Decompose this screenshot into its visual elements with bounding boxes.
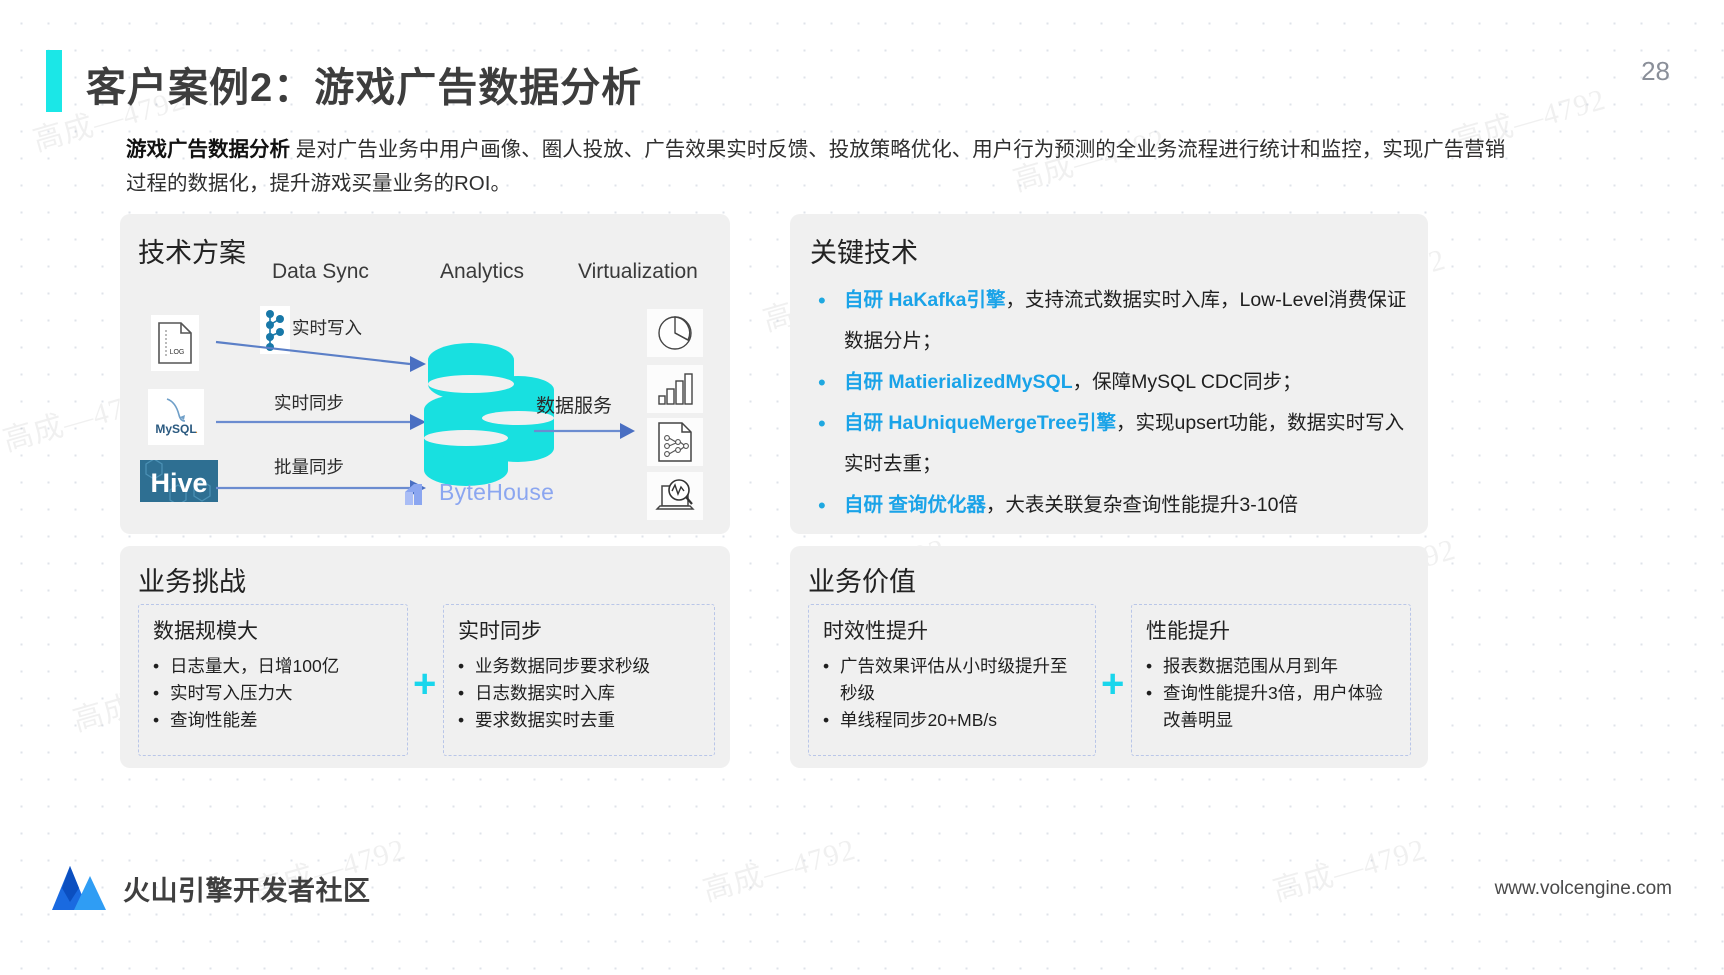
business-value-panel: 业务价值 时效性提升 •广告效果评估从小时级提升至秒级 •单线程同步20+MB/… (790, 546, 1428, 768)
bullet-icon: • (153, 680, 170, 707)
list-item: •业务数据同步要求秒级 (458, 653, 702, 680)
challenge-group-data-scale: 数据规模大 •日志量大，日增100亿 •实时写入压力大 •查询性能差 (138, 604, 408, 756)
business-value-title: 业务价值 (808, 560, 916, 599)
arrow-realtime-sync (214, 410, 434, 434)
group-title: 性能提升 (1146, 615, 1398, 645)
key-tech-panel: 关键技术 • 自研 HaKafka引擎，支持流式数据实时入库，Low-Level… (790, 214, 1428, 534)
bullet-icon: • (823, 707, 840, 734)
list-item: •查询性能差 (153, 707, 395, 734)
value-group-performance: 性能提升 •报表数据范围从月到年 •查询性能提升3倍，用户体验改善明显 (1131, 604, 1411, 756)
challenge-group-realtime-sync: 实时同步 •业务数据同步要求秒级 •日志数据实时入库 •要求数据实时去重 (443, 604, 715, 756)
key-tech-rest: ，大表关联复杂查询性能提升3-10倍 (986, 494, 1298, 516)
key-tech-highlight: 自研 HaKafka引擎 (844, 289, 1005, 311)
laptop-analytics-icon (647, 472, 703, 520)
list-item: • 自研 HaKafka引擎，支持流式数据实时入库，Low-Level消费保证数… (818, 280, 1414, 362)
column-label-analytics: Analytics (440, 260, 524, 284)
column-label-data-sync: Data Sync (272, 260, 369, 284)
group-title: 实时同步 (458, 615, 702, 645)
svg-text:Hive: Hive (150, 468, 207, 498)
list-item: •报表数据范围从月到年 (1146, 653, 1398, 680)
plus-separator: + (1101, 664, 1124, 704)
intro-paragraph: 游戏广告数据分析 是对广告业务中用户画像、圈人投放、广告效果实时反馈、投放策略优… (126, 133, 1506, 201)
bullet-icon: • (458, 707, 475, 734)
list-item: •日志数据实时入库 (458, 680, 702, 707)
list-item: •单线程同步20+MB/s (823, 707, 1083, 734)
mysql-logo-icon: MySQL . (148, 389, 204, 445)
key-tech-highlight: 自研 MatierializedMySQL (844, 371, 1073, 393)
list-item: • 自研 查询优化器，大表关联复杂查询性能提升3-10倍 (818, 485, 1414, 526)
list-item: •日志量大，日增100亿 (153, 653, 395, 680)
title-accent-bar (46, 50, 62, 112)
bullet-icon: • (818, 485, 844, 526)
list-item: • 自研 MatierializedMySQL，保障MySQL CDC同步； (818, 362, 1414, 403)
svg-text:LOG: LOG (170, 349, 185, 356)
flow-label-realtime-write: 实时写入 (292, 315, 362, 340)
key-tech-list: • 自研 HaKafka引擎，支持流式数据实时入库，Low-Level消费保证数… (818, 280, 1414, 526)
bullet-icon: • (1146, 653, 1163, 680)
bullet-icon: • (818, 403, 844, 485)
arrow-batch-sync (214, 476, 434, 500)
arrow-realtime-write (214, 338, 434, 378)
group-title: 数据规模大 (153, 615, 395, 645)
plus-separator: + (413, 664, 436, 704)
tech-solution-title: 技术方案 (138, 231, 246, 270)
hive-logo-icon: Hive (140, 460, 218, 502)
pie-chart-icon (647, 309, 703, 357)
bytehouse-logo: ByteHouse (403, 479, 554, 506)
key-tech-highlight: 自研 HaUniqueMergeTree引擎 (844, 412, 1116, 434)
list-item: •查询性能提升3倍，用户体验改善明显 (1146, 680, 1398, 734)
group-title: 时效性提升 (823, 615, 1083, 645)
list-item: •广告效果评估从小时级提升至秒级 (823, 653, 1083, 707)
bullet-icon: • (1146, 680, 1163, 734)
bullet-icon: • (153, 707, 170, 734)
business-challenges-panel: 业务挑战 数据规模大 •日志量大，日增100亿 •实时写入压力大 •查询性能差 … (120, 546, 730, 768)
page-number: 28 (1641, 56, 1670, 87)
column-label-virtualization: Virtualization (578, 260, 698, 284)
key-tech-highlight: 自研 查询优化器 (844, 494, 986, 516)
flow-document-icon (647, 418, 703, 466)
bullet-icon: • (153, 653, 170, 680)
slide-root: 高成—4792 高成—4792 高成—4792 高成—4792 高成—4792 … (0, 0, 1724, 975)
footer-website: www.volcengine.com (1495, 878, 1672, 900)
bullet-icon: • (823, 653, 840, 707)
bytehouse-logo-text: ByteHouse (439, 479, 554, 506)
watermark: 高成—4792 (697, 824, 860, 910)
svg-text:MySQL: MySQL (155, 422, 196, 436)
arrow-data-service (532, 420, 642, 442)
intro-lead: 游戏广告数据分析 (126, 138, 290, 161)
footer-logo: 火山引擎开发者社区 (48, 862, 371, 914)
bullet-icon: • (818, 280, 844, 362)
data-service-label: 数据服务 (536, 391, 612, 418)
list-item: • 自研 HaUniqueMergeTree引擎，实现upsert功能，数据实时… (818, 403, 1414, 485)
footer-brand: 火山引擎开发者社区 (123, 869, 371, 908)
key-tech-rest: ，保障MySQL CDC同步； (1073, 371, 1302, 393)
tech-solution-panel: 技术方案 Data Sync Analytics Virtualization … (120, 214, 730, 534)
bullet-icon: • (818, 362, 844, 403)
watermark: 高成—4792 (1267, 824, 1430, 910)
value-group-timeliness: 时效性提升 •广告效果评估从小时级提升至秒级 •单线程同步20+MB/s (808, 604, 1096, 756)
page-title: 客户案例2：游戏广告数据分析 (86, 55, 642, 113)
database-cylinders-icon (418, 338, 558, 498)
log-file-icon: LOG (151, 315, 199, 371)
list-item: •实时写入压力大 (153, 680, 395, 707)
intro-body: 是对广告业务中用户画像、圈人投放、广告效果实时反馈、投放策略优化、用户行为预测的… (126, 138, 1505, 195)
bar-chart-icon (647, 365, 703, 413)
list-item: •要求数据实时去重 (458, 707, 702, 734)
key-tech-title: 关键技术 (810, 231, 918, 270)
svg-text:.: . (195, 424, 198, 436)
bullet-icon: • (458, 680, 475, 707)
bytehouse-mark-icon (403, 480, 433, 506)
bullet-icon: • (458, 653, 475, 680)
volcengine-mountain-logo (48, 862, 110, 914)
business-challenges-title: 业务挑战 (138, 560, 246, 599)
